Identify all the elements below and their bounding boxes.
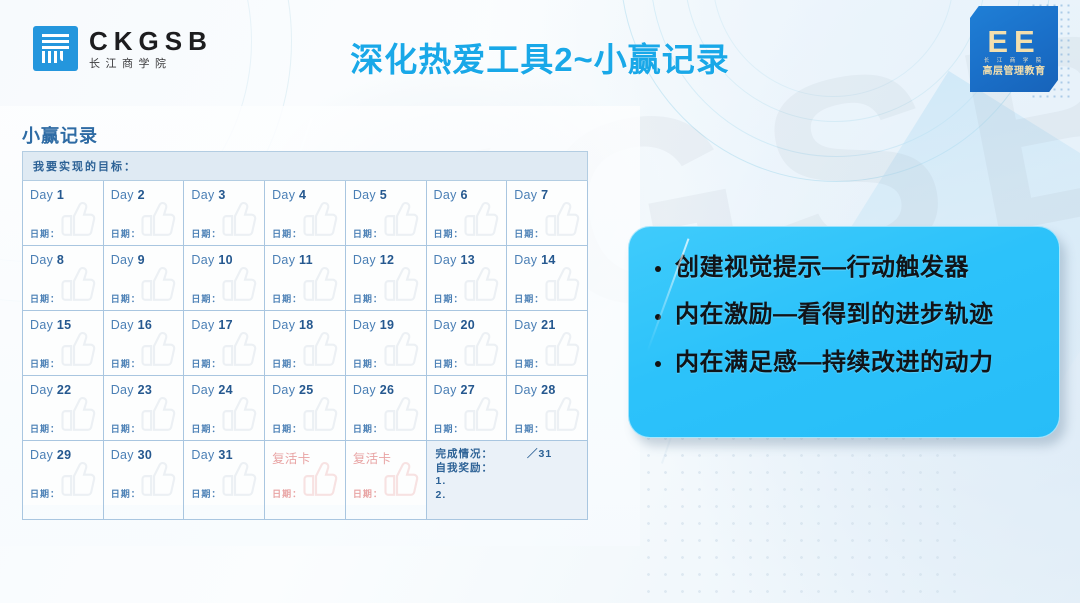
day-cell[interactable]: Day 7 日期： [507,181,588,246]
day-cell[interactable]: Day 12 日期： [345,246,426,311]
day-cell[interactable]: Day 1 日期： [23,181,104,246]
summary-cell-inner: 完成情况： ／31 自我奖励： 1. 2. [427,441,587,519]
day-cell-inner: Day 9 日期： [104,246,184,310]
day-cell[interactable]: Day 24 日期： [184,376,265,441]
date-label: 日期： [30,487,60,500]
date-label: 日期： [111,227,141,240]
date-label: 日期： [272,292,302,305]
table-row: Day 15 日期： Day 16 日期： Day 17 日期： [23,311,588,376]
date-label: 日期： [514,357,544,370]
ee-logo-subtitle-large: 高层管理教育 [970,67,1058,77]
date-label: 日期： [30,357,60,370]
day-cell-inner: Day 11 日期： [265,246,345,310]
day-label: Day 1 [30,188,64,202]
day-cell[interactable]: Day 31 日期： [184,441,265,520]
day-label: Day 21 [514,318,555,332]
date-label: 日期： [272,487,302,500]
day-label: Day 16 [111,318,152,332]
date-label: 日期： [191,487,221,500]
day-cell-inner: Day 22 日期： [23,376,103,440]
date-label: 日期： [514,227,544,240]
date-label: 日期： [514,292,544,305]
bullet-icon [655,361,661,367]
day-cell[interactable]: Day 25 日期： [265,376,346,441]
list-item: 内在激励—看得到的进步轨迹 [655,302,1039,328]
key-point-text: 创建视觉提示—行动触发器 [675,255,969,281]
table-row: Day 29 日期： Day 30 日期： Day 31 日期： [23,441,588,520]
completion-value: ／31 [527,448,552,462]
day-label: Day 19 [353,318,394,332]
day-cell-inner: Day 19 日期： [346,311,426,375]
day-cell-inner: Day 21 日期： [507,311,587,375]
day-cell-inner: Day 13 日期： [427,246,507,310]
goal-cell: 我要实现的目标： [23,152,588,181]
ee-logo-initials: EE [970,26,1058,57]
day-label: Day 5 [353,188,387,202]
day-cell[interactable]: Day 5 日期： [345,181,426,246]
day-cell-inner: Day 30 日期： [104,441,184,505]
day-cell-inner: Day 7 日期： [507,181,587,245]
day-label: Day 8 [30,253,64,267]
day-cell[interactable]: Day 13 日期： [426,246,507,311]
date-label: 日期： [30,292,60,305]
date-label: 日期： [111,357,141,370]
day-label: Day 6 [434,188,468,202]
day-cell-inner: Day 27 日期： [427,376,507,440]
day-cell-inner: Day 28 日期： [507,376,587,440]
day-cell[interactable]: Day 4 日期： [265,181,346,246]
page-title: 深化热爱工具2~小赢记录 [0,33,1080,81]
day-cell[interactable]: Day 9 日期： [103,246,184,311]
day-cell[interactable]: Day 2 日期： [103,181,184,246]
date-label: 日期： [30,422,60,435]
date-label: 日期： [434,227,464,240]
list-item: 创建视觉提示—行动触发器 [655,255,1039,281]
table-row: Day 1 日期： Day 2 日期： Day 3 日期： [23,181,588,246]
day-cell-inner: Day 3 日期： [184,181,264,245]
date-label: 日期： [191,422,221,435]
date-label: 日期： [353,227,383,240]
day-label: Day 4 [272,188,306,202]
day-cell[interactable]: Day 8 日期： [23,246,104,311]
day-cell-inner: Day 1 日期： [23,181,103,245]
date-label: 日期： [272,227,302,240]
revive-cell[interactable]: 复活卡 日期： [345,441,426,520]
card-title: 小赢记录 [22,122,98,148]
table-row: Day 22 日期： Day 23 日期： Day 24 日期： [23,376,588,441]
day-cell[interactable]: Day 19 日期： [345,311,426,376]
revive-cell-inner: 复活卡 日期： [265,441,345,505]
date-label: 日期： [191,292,221,305]
date-label: 日期： [30,227,60,240]
day-label: Day 15 [30,318,71,332]
day-cell-inner: Day 20 日期： [427,311,507,375]
date-label: 日期： [111,487,141,500]
day-cell-inner: Day 31 日期： [184,441,264,505]
day-cell[interactable]: Day 27 日期： [426,376,507,441]
date-label: 日期： [353,422,383,435]
day-cell[interactable]: Day 16 日期： [103,311,184,376]
day-label: Day 22 [30,383,71,397]
day-label: Day 14 [514,253,555,267]
date-label: 日期： [434,422,464,435]
date-label: 日期： [434,292,464,305]
day-label: Day 26 [353,383,394,397]
day-label: Day 25 [272,383,313,397]
date-label: 日期： [272,422,302,435]
table-row: Day 8 日期： Day 9 日期： Day 10 日期： [23,246,588,311]
reward-item-2: 2. [436,489,578,503]
date-label: 日期： [191,357,221,370]
goal-label: 我要实现的目标： [33,161,137,173]
reward-label: 自我奖励： [436,462,578,476]
day-label: Day 27 [434,383,475,397]
day-cell-inner: Day 12 日期： [346,246,426,310]
small-wins-table: 我要实现的目标： Day 1 日期： Day 2 日期： D [22,151,588,520]
goal-row: 我要实现的目标： [23,152,588,181]
day-cell[interactable]: Day 14 日期： [507,246,588,311]
summary-cell[interactable]: 完成情况： ／31 自我奖励： 1. 2. [426,441,587,520]
day-cell[interactable]: Day 23 日期： [103,376,184,441]
revive-label: 复活卡 [272,448,310,467]
day-cell-inner: Day 17 日期： [184,311,264,375]
day-cell[interactable]: Day 20 日期： [426,311,507,376]
day-label: Day 12 [353,253,394,267]
day-label: Day 10 [191,253,232,267]
date-label: 日期： [353,487,383,500]
day-label: Day 2 [111,188,145,202]
completion-line: 完成情况： ／31 [436,448,578,462]
revive-label: 复活卡 [353,448,391,467]
day-cell-inner: Day 18 日期： [265,311,345,375]
day-label: Day 7 [514,188,548,202]
day-cell[interactable]: Day 6 日期： [426,181,507,246]
date-label: 日期： [111,422,141,435]
day-label: Day 28 [514,383,555,397]
day-label: Day 29 [30,448,71,462]
date-label: 日期： [514,422,544,435]
key-points-callout: 创建视觉提示—行动触发器 内在激励—看得到的进步轨迹 内在满足感—持续改进的动力 [628,226,1060,438]
day-label: Day 9 [111,253,145,267]
date-label: 日期： [353,292,383,305]
day-cell-inner: Day 15 日期： [23,311,103,375]
dot-grid-decoration [640,430,970,600]
day-cell-inner: Day 29 日期： [23,441,103,505]
key-points-list: 创建视觉提示—行动触发器 内在激励—看得到的进步轨迹 内在满足感—持续改进的动力 [629,227,1059,376]
day-cell[interactable]: Day 11 日期： [265,246,346,311]
day-label: Day 30 [111,448,152,462]
list-item: 内在满足感—持续改进的动力 [655,350,1039,376]
day-cell-inner: Day 25 日期： [265,376,345,440]
day-cell-inner: Day 24 日期： [184,376,264,440]
day-label: Day 18 [272,318,313,332]
day-cell[interactable]: Day 18 日期： [265,311,346,376]
key-point-text: 内在满足感—持续改进的动力 [675,350,994,376]
date-label: 日期： [272,357,302,370]
small-wins-table-body: 我要实现的目标： Day 1 日期： Day 2 日期： D [23,152,588,520]
day-cell[interactable]: Day 29 日期： [23,441,104,520]
date-label: 日期： [111,292,141,305]
day-cell-inner: Day 8 日期： [23,246,103,310]
day-cell-inner: Day 26 日期： [346,376,426,440]
day-cell-inner: Day 5 日期： [346,181,426,245]
day-cell[interactable]: Day 26 日期： [345,376,426,441]
day-label: Day 20 [434,318,475,332]
day-cell-inner: Day 6 日期： [427,181,507,245]
ee-logo: EE 长 江 商 学 院 高层管理教育 [970,6,1058,92]
day-label: Day 3 [191,188,225,202]
day-cell[interactable]: Day 21 日期： [507,311,588,376]
day-cell[interactable]: Day 17 日期： [184,311,265,376]
day-label: Day 11 [272,253,313,267]
day-label: Day 17 [191,318,232,332]
completion-label: 完成情况： [436,448,494,462]
reward-item-1: 1. [436,475,578,489]
revive-cell[interactable]: 复活卡 日期： [265,441,346,520]
day-cell[interactable]: Day 30 日期： [103,441,184,520]
day-cell[interactable]: Day 22 日期： [23,376,104,441]
bullet-icon [655,266,661,272]
day-cell[interactable]: Day 15 日期： [23,311,104,376]
ee-logo-subtitle-small: 长 江 商 学 院 [970,59,1058,65]
date-label: 日期： [353,357,383,370]
day-cell[interactable]: Day 28 日期： [507,376,588,441]
day-cell-inner: Day 4 日期： [265,181,345,245]
day-cell[interactable]: Day 10 日期： [184,246,265,311]
day-label: Day 23 [111,383,152,397]
date-label: 日期： [434,357,464,370]
slide-canvas: CKGSB CKGSB 长江商学院 深化热爱工具2~小赢记录 EE 长 江 商 … [0,0,1080,603]
day-label: Day 31 [191,448,232,462]
day-cell-inner: Day 16 日期： [104,311,184,375]
small-wins-card: 小赢记录 我要实现的目标： Day 1 日期： Day 2 [0,106,640,546]
day-label: Day 13 [434,253,475,267]
day-label: Day 24 [191,383,232,397]
day-cell-inner: Day 10 日期： [184,246,264,310]
date-label: 日期： [191,227,221,240]
day-cell-inner: Day 2 日期： [104,181,184,245]
day-cell-inner: Day 14 日期： [507,246,587,310]
day-cell-inner: Day 23 日期： [104,376,184,440]
key-point-text: 内在激励—看得到的进步轨迹 [675,302,994,328]
revive-cell-inner: 复活卡 日期： [346,441,426,505]
day-cell[interactable]: Day 3 日期： [184,181,265,246]
